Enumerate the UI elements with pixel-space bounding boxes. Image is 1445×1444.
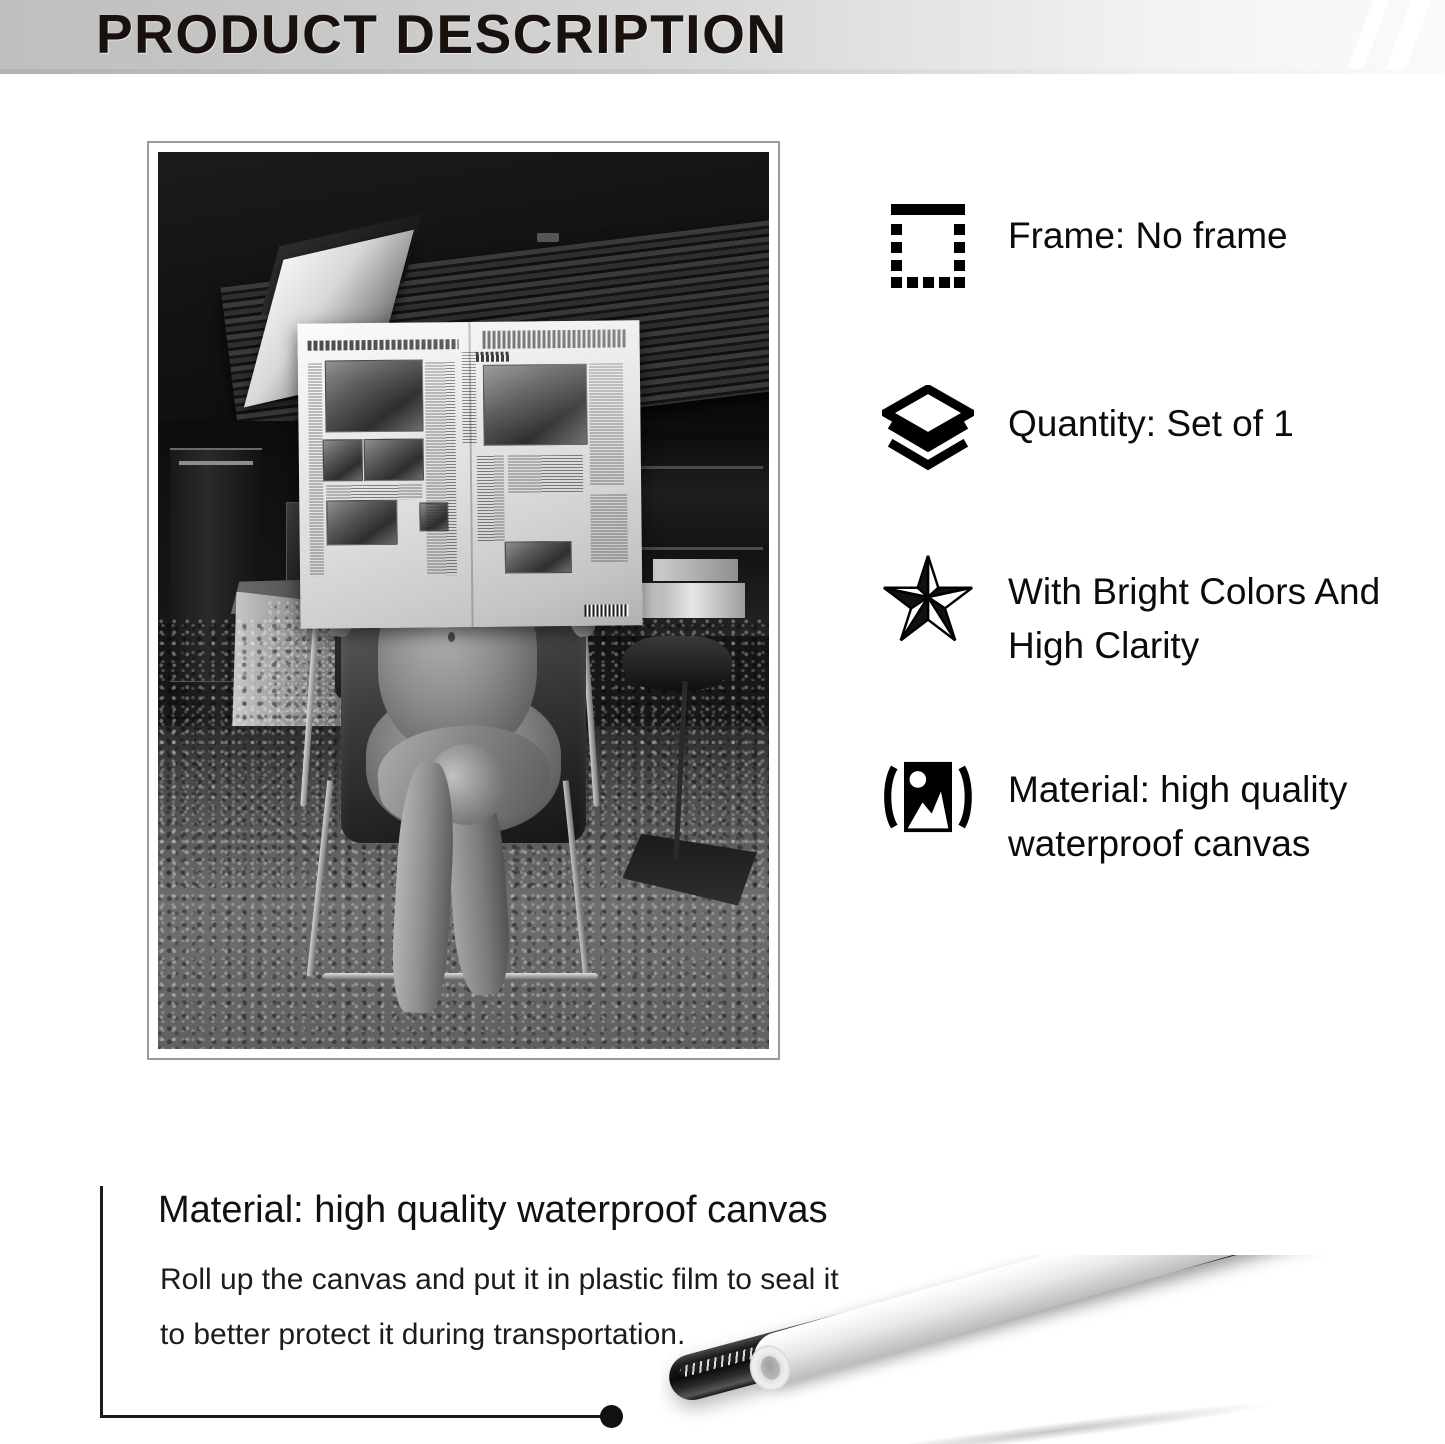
- feature-label-quantity: Quantity: Set of 1: [976, 383, 1420, 451]
- photo-shelf-book: [653, 559, 739, 581]
- photo-newspaper: [297, 321, 642, 630]
- newspaper-masthead: [482, 330, 626, 350]
- image-icon: [880, 749, 976, 845]
- feature-label-quality-line2: High Clarity: [1008, 619, 1420, 673]
- newspaper-photo: [504, 541, 571, 574]
- bracket-end-dot: [600, 1405, 623, 1428]
- newspaper-text-column: [461, 353, 476, 445]
- page-title: PRODUCT DESCRIPTION: [96, 2, 788, 66]
- newspaper-text-column: [588, 364, 623, 486]
- newspaper-barcode: [584, 604, 629, 617]
- newspaper-text-column: [326, 485, 422, 501]
- bracket-horizontal-line: [100, 1415, 610, 1418]
- frame-icon: [880, 195, 976, 291]
- feature-label-material-line1: Material: high quality: [1008, 763, 1420, 817]
- feature-label-quality: With Bright Colors And High Clarity: [976, 551, 1420, 673]
- material-title: Material: high quality waterproof canvas: [158, 1186, 1058, 1234]
- newspaper-photo: [363, 439, 424, 481]
- newspaper-subhead: [475, 352, 509, 361]
- newspaper-photo: [482, 364, 587, 446]
- feature-label-quality-line1: With Bright Colors And: [1008, 565, 1420, 619]
- photo-shelf-books: [628, 583, 744, 619]
- newspaper-photo: [325, 360, 424, 433]
- bracket-vertical-line: [100, 1186, 103, 1418]
- roll-white-canvas: [748, 1255, 1426, 1390]
- photo-chair-base: [323, 973, 598, 979]
- banner-slash-decoration: [1376, 0, 1436, 74]
- newspaper-text-column: [590, 495, 628, 562]
- photo-ceiling-fixture: [537, 233, 559, 242]
- feature-label-material: Material: high quality waterproof canvas: [976, 749, 1420, 871]
- roll-shadow: [841, 1397, 1270, 1444]
- feature-item-quality: With Bright Colors And High Clarity: [880, 551, 1420, 673]
- newspaper-headline: [307, 339, 458, 350]
- feature-label-material-line2: waterproof canvas: [1008, 817, 1420, 871]
- feature-list: Frame: No frame Quantity: Set of 1: [880, 195, 1420, 929]
- banner-slash-decoration: [1338, 0, 1394, 74]
- layers-icon: [880, 383, 976, 479]
- product-photograph: [158, 152, 769, 1049]
- product-image-frame: [147, 141, 780, 1060]
- newspaper-photo: [322, 439, 362, 481]
- feature-item-quantity: Quantity: Set of 1: [880, 383, 1420, 479]
- feature-label-frame: Frame: No frame: [976, 195, 1420, 263]
- newspaper-photo: [326, 500, 397, 545]
- newspaper-text-column: [424, 362, 457, 576]
- header-banner: PRODUCT DESCRIPTION: [0, 0, 1445, 74]
- feature-item-material: Material: high quality waterproof canvas: [880, 749, 1420, 871]
- photo-cabinet-handle: [179, 461, 252, 465]
- feature-item-frame: Frame: No frame: [880, 195, 1420, 291]
- photo-bar-stool: [622, 636, 732, 690]
- canvas-roll-illustration: [660, 1255, 1445, 1444]
- newspaper-text-column: [507, 455, 583, 492]
- newspaper-text-column: [308, 364, 324, 578]
- star-icon: [880, 551, 976, 647]
- newspaper-text-column: [476, 456, 504, 542]
